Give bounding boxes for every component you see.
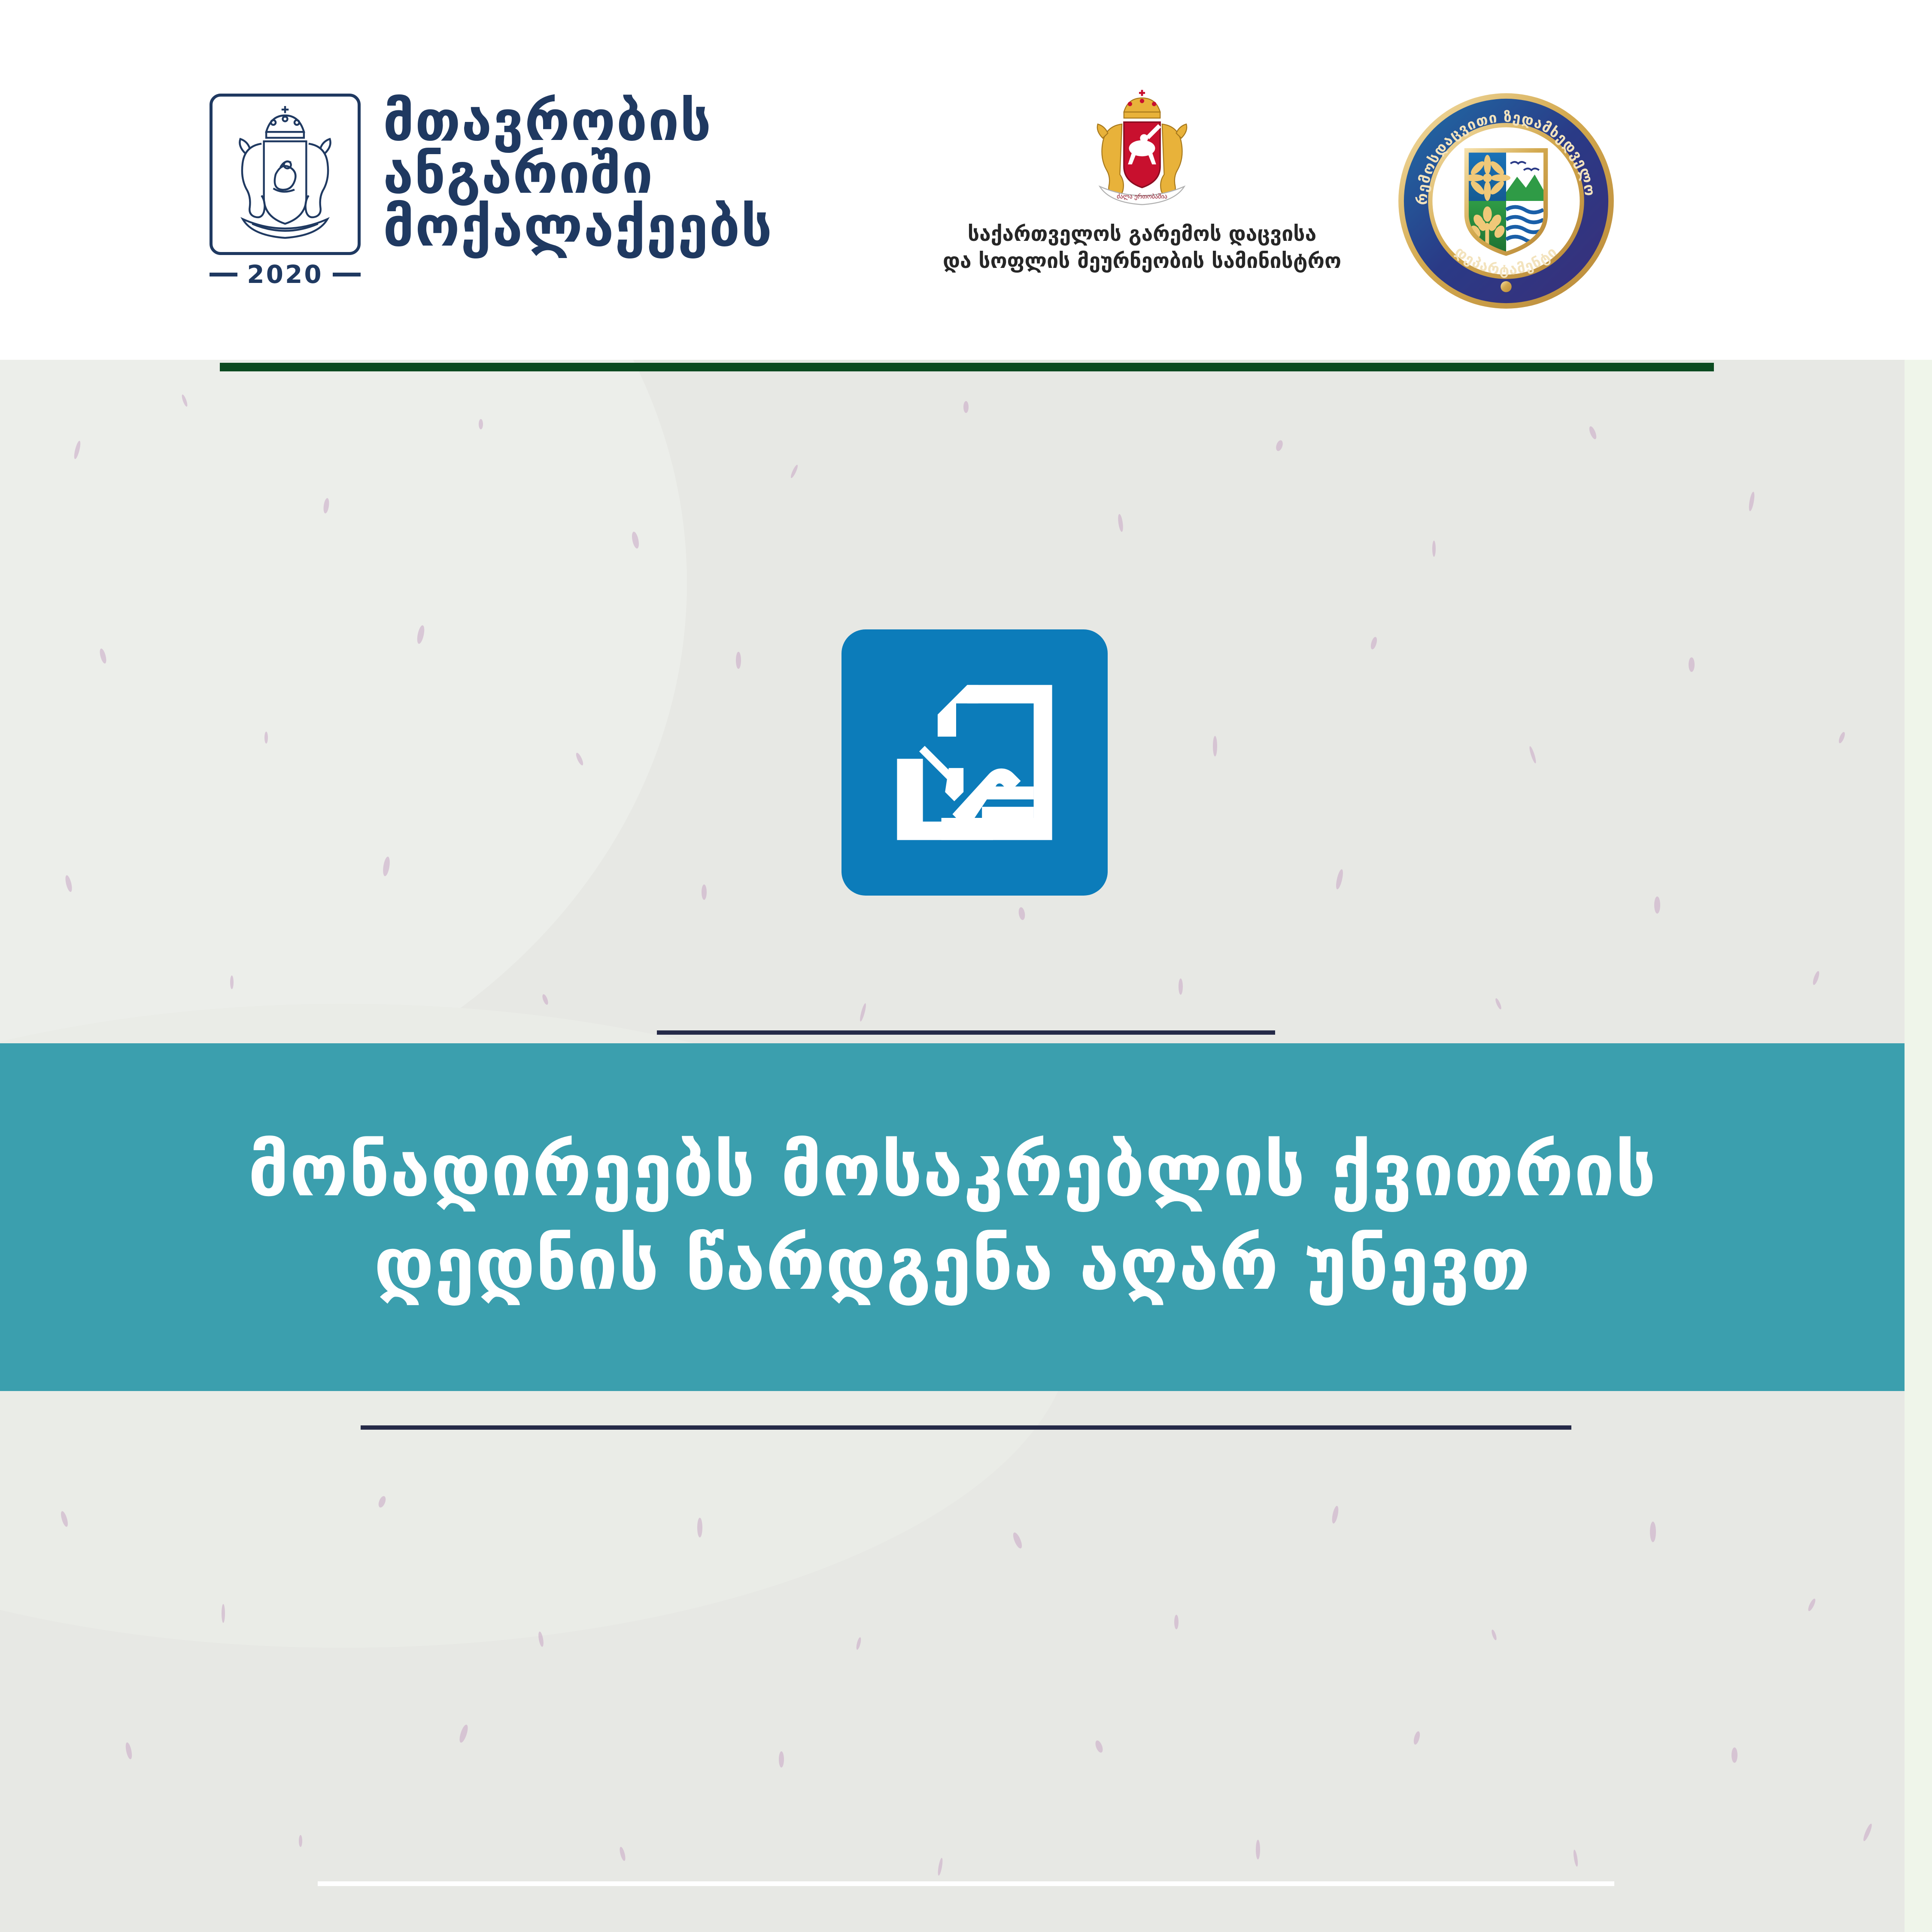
divider-above-title (657, 1030, 1275, 1035)
report-year-row: 2020 (210, 262, 361, 287)
wordmark-line-2: ანგარიში (383, 148, 773, 201)
georgia-coat-of-arms-icon (210, 94, 361, 255)
divider-bottom-white (318, 1881, 1614, 1886)
ministry-caption: საქართველოს გარემოს დაცვისა და სოფლის მე… (936, 221, 1348, 275)
page-title: მონადირეებს მოსაკრებლის ქვითრის დედნის წ… (128, 1124, 1777, 1311)
coat-of-arms-glyph (213, 97, 358, 252)
wordmark-line-3: მოქალაქეებს (383, 201, 773, 254)
title-band: მონადირეებს მოსაკრებლის ქვითრის დედნის წ… (0, 1043, 1905, 1391)
wordmark-line-1: მთავრობის (383, 95, 773, 148)
svg-text:ძალა ერთობაშია: ძალა ერთობაშია (1117, 193, 1167, 200)
georgia-state-coat-of-arms-icon: ძალა ერთობაშია (1071, 86, 1213, 215)
divider-below-title (361, 1425, 1571, 1430)
poster-canvas: მონადირეებს მოსაკრებლის ქვითრის დედნის წ… (0, 0, 1932, 1932)
annual-report-logo: მთავრობის ანგარიში მოქალაქეებს (210, 94, 773, 255)
report-year: 2020 (247, 262, 323, 287)
logo-row: მთავრობის ანგარიში მოქალაქეებს 2020 (0, 0, 1932, 360)
ministry-block: ძალა ერთობაშია საქართველოს გარემოს დაცვი… (936, 86, 1348, 275)
year-rule-right (333, 273, 361, 276)
document-signature-icon (841, 629, 1108, 896)
year-rule-left (210, 273, 237, 276)
header-bar: მთავრობის ანგარიში მოქალაქეებს 2020 (0, 0, 1932, 360)
seal-glyph: გარემოსდაცვითი ზედამხედველობის დეპარტამე… (1396, 91, 1616, 311)
header-green-rule (220, 363, 1714, 371)
environmental-supervision-department-seal-icon: გარემოსდაცვითი ზედამხედველობის დეპარტამე… (1396, 91, 1616, 311)
background-right-strip (1905, 360, 1932, 1932)
document-signature-glyph (882, 670, 1067, 855)
report-wordmark: მთავრობის ანგარიში მოქალაქეებს (383, 94, 773, 254)
